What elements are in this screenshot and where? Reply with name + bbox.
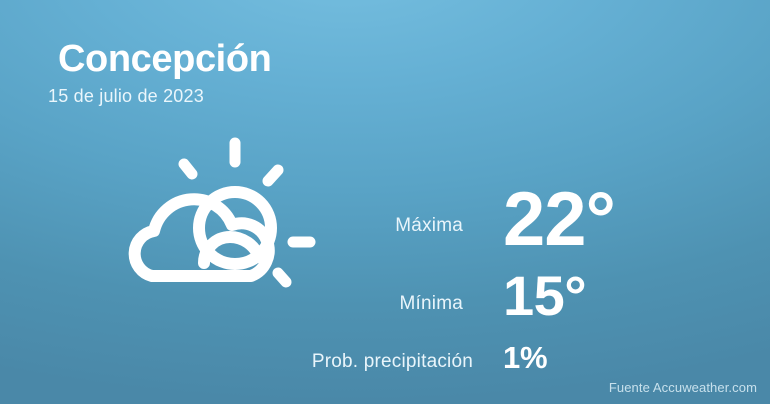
max-temperature-value: 22° <box>503 182 615 258</box>
partly-cloudy-sun-behind-cloud-icon <box>108 128 323 303</box>
data-source-attribution: Fuente Accuweather.com <box>609 380 757 395</box>
weather-readings: Máxima 22° Mínima 15° Prob. precipitació… <box>300 126 720 374</box>
precipitation-probability-value: 1% <box>503 342 547 373</box>
weather-widget: Concepción 15 de julio de 2023 <box>0 0 770 404</box>
city-name: Concepción <box>58 40 271 80</box>
widget-header: Concepción 15 de julio de 2023 <box>58 40 271 107</box>
max-temperature-label: Máxima <box>300 215 503 237</box>
precipitation-probability-label: Prob. precipitación <box>300 351 503 373</box>
reading-row-max: Máxima 22° <box>300 126 720 222</box>
forecast-date: 15 de julio de 2023 <box>48 86 271 108</box>
min-temperature-label: Mínima <box>300 293 503 315</box>
min-temperature-value: 15° <box>503 268 586 324</box>
weather-condition-icon <box>108 128 323 303</box>
